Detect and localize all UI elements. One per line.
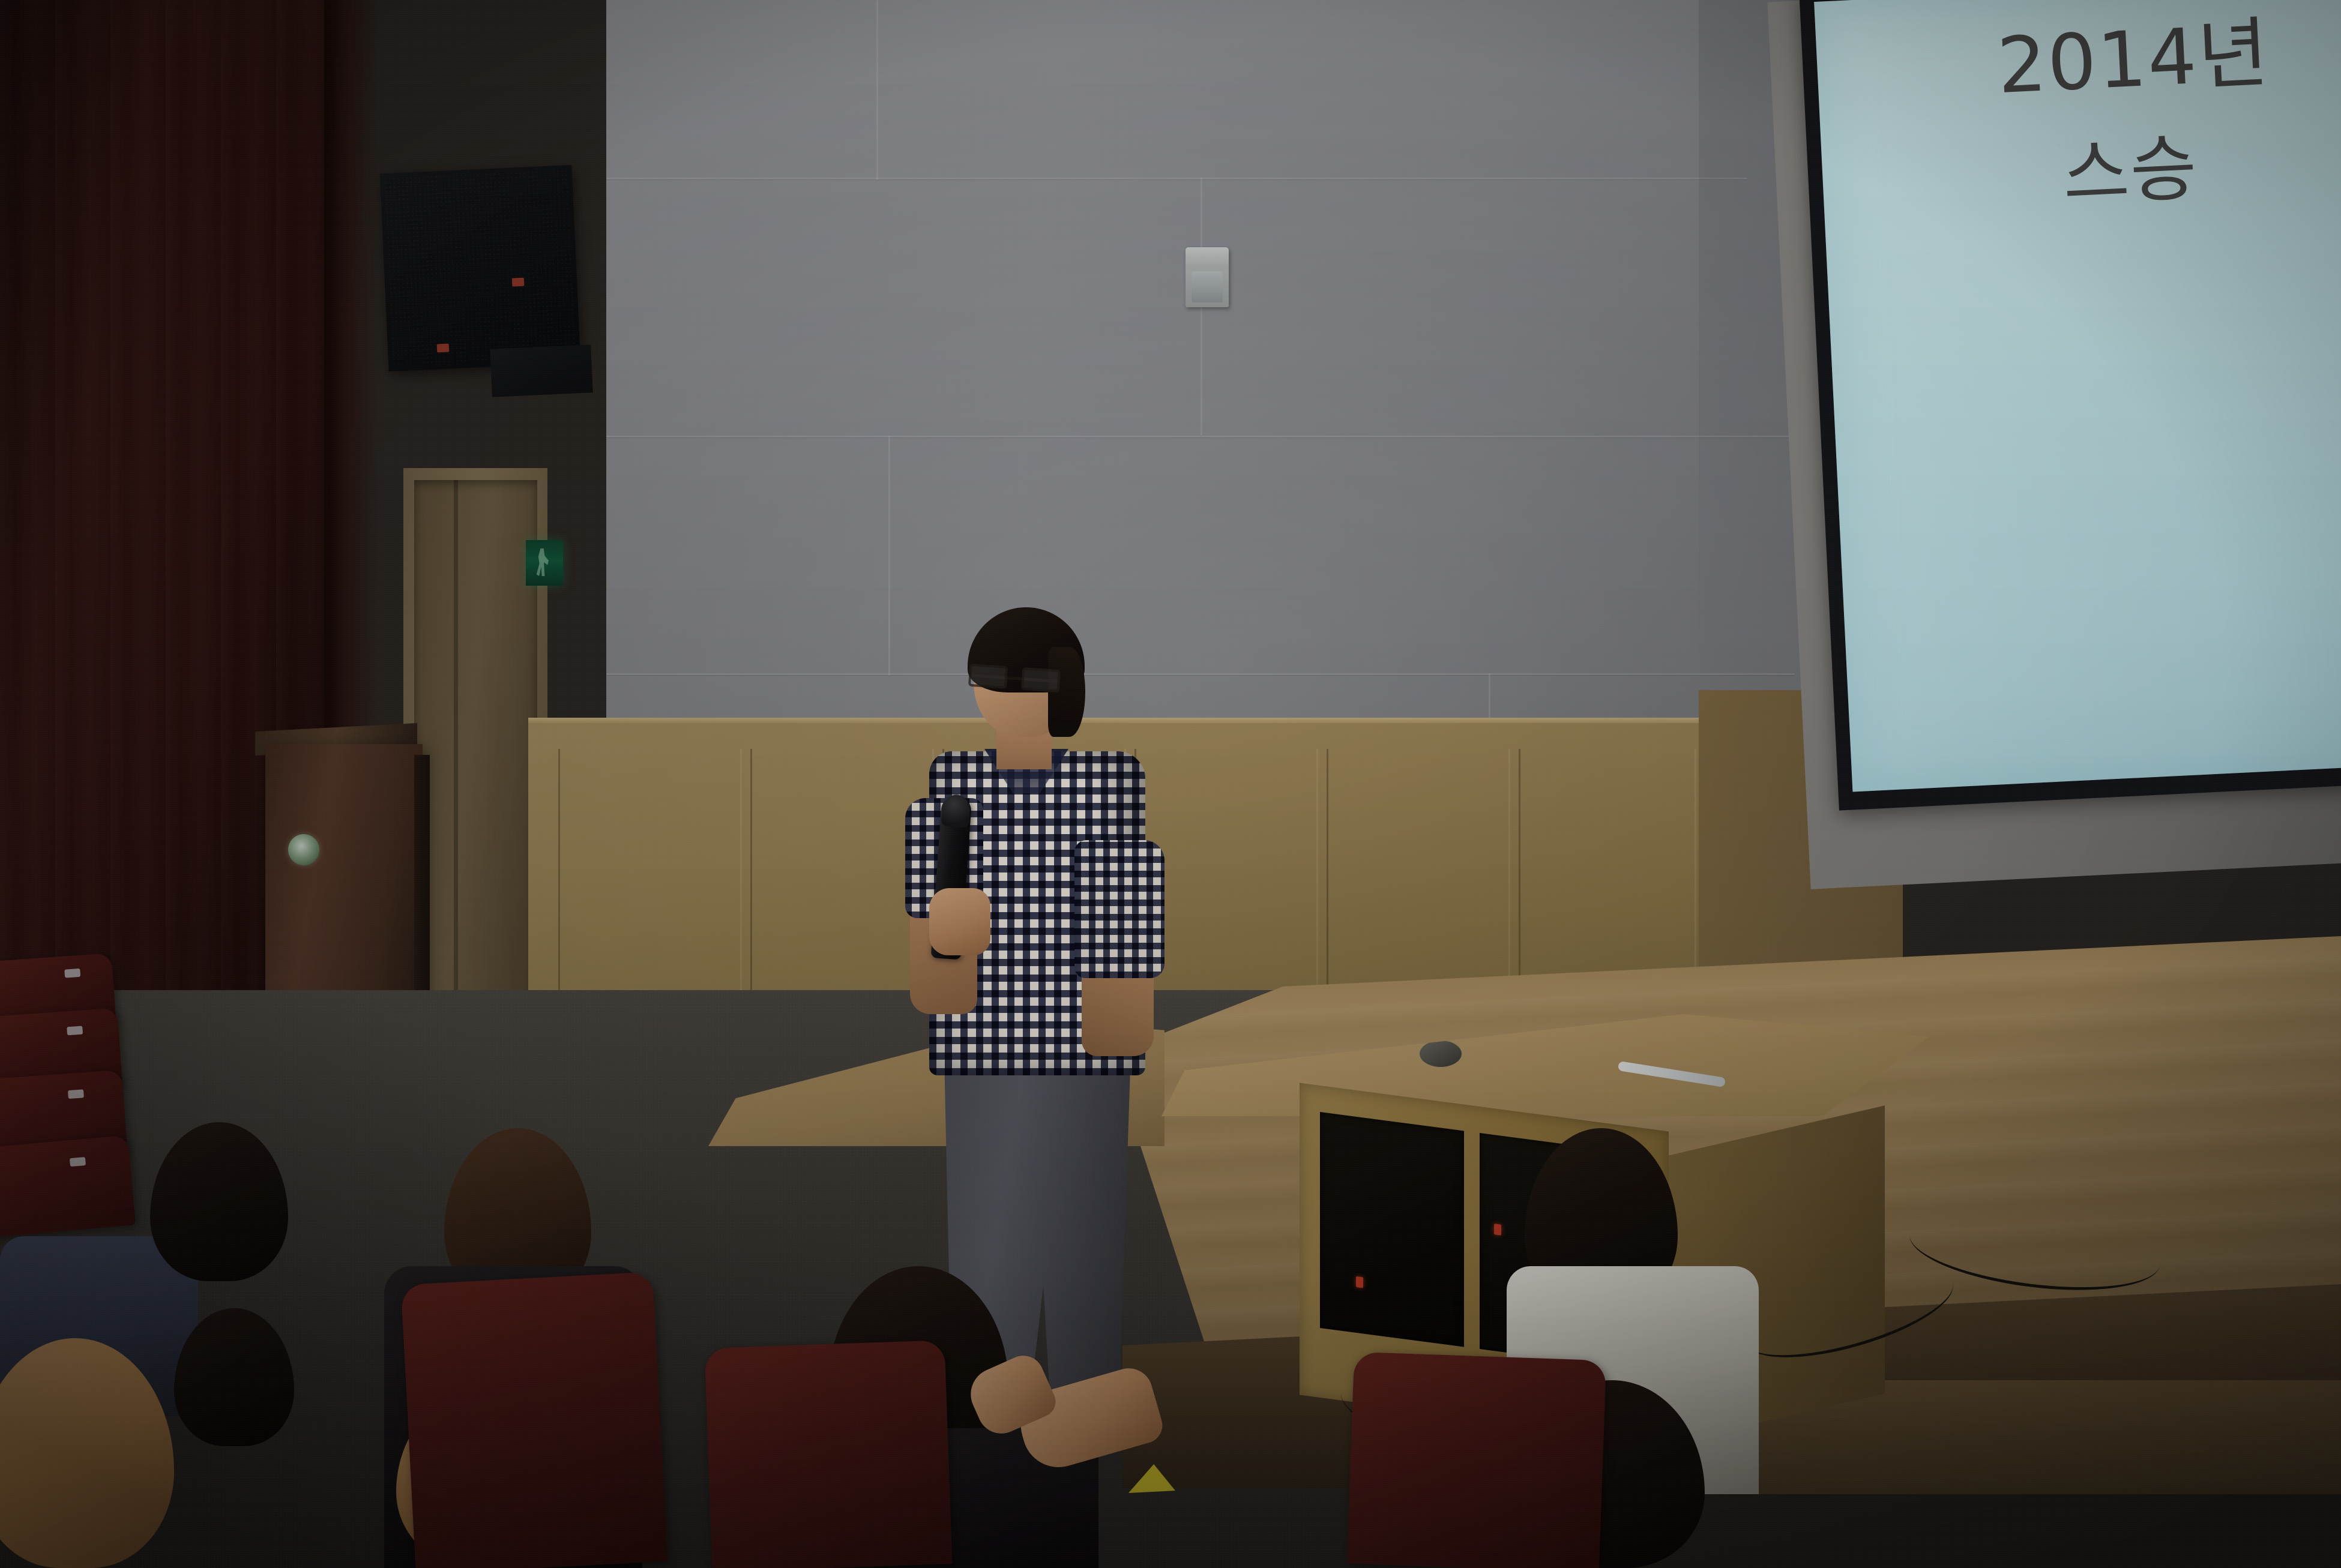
wainscot-panel — [558, 749, 742, 1013]
side-exit-door[interactable] — [414, 480, 537, 1050]
wall-seam-horizontal — [606, 436, 1795, 437]
seat-number-tag — [67, 1026, 83, 1036]
glasses-lens-right — [1021, 667, 1061, 692]
cabinet-top-connector — [1420, 1041, 1462, 1067]
cabinet-indicator-light — [1356, 1276, 1363, 1288]
av-cabinet-door-left[interactable] — [1320, 1112, 1464, 1347]
running-person-icon — [535, 548, 549, 576]
auditorium-seat[interactable] — [1347, 1352, 1606, 1568]
cabinet-indicator-light — [1494, 1224, 1501, 1236]
pa-speaker-logo — [437, 344, 450, 353]
presenter-hand — [929, 888, 990, 955]
pa-speaker-grille — [384, 169, 577, 368]
wall-seam-horizontal — [606, 673, 1795, 675]
auditorium-seat[interactable] — [0, 1135, 136, 1240]
slide-heading-line-1: 2014년 — [1995, 0, 2272, 115]
auditorium-seat[interactable] — [705, 1340, 953, 1568]
wall-seam-vertical — [876, 0, 878, 180]
presenter-right-sleeve — [1074, 840, 1164, 978]
wall-mounted-pa-speaker — [380, 165, 581, 371]
door-mullion — [454, 480, 458, 1050]
emergency-exit-sign — [526, 540, 563, 586]
wall-mounted-sensor — [1186, 247, 1229, 307]
wainscot-panel — [1327, 749, 1510, 1013]
auditorium-seat[interactable] — [401, 1272, 668, 1568]
podium-emblem-icon — [288, 834, 319, 865]
seat-number-tag — [68, 1089, 84, 1099]
glasses-lens-left — [968, 664, 1008, 689]
slide-heading-line-2: 스승 — [2060, 109, 2200, 220]
cabinet-top-pointer-stick[interactable] — [1618, 1061, 1726, 1087]
wall-seam-vertical — [888, 436, 890, 676]
auditorium-wall-upper — [606, 0, 1843, 774]
pa-speaker-lower-module — [490, 344, 592, 397]
sensor-lens-icon — [1192, 271, 1223, 302]
seat-number-tag — [70, 1157, 86, 1167]
projection-screen-frame: 2014년 스승 — [1799, 0, 2341, 811]
projection-screen: 2014년 스승 — [1814, 0, 2341, 792]
photograph-canvas: 2014년 스승 — [0, 0, 2341, 1568]
seat-number-tag — [64, 969, 80, 978]
wall-seam-horizontal — [606, 178, 1747, 179]
pa-speaker-logo — [512, 278, 525, 287]
